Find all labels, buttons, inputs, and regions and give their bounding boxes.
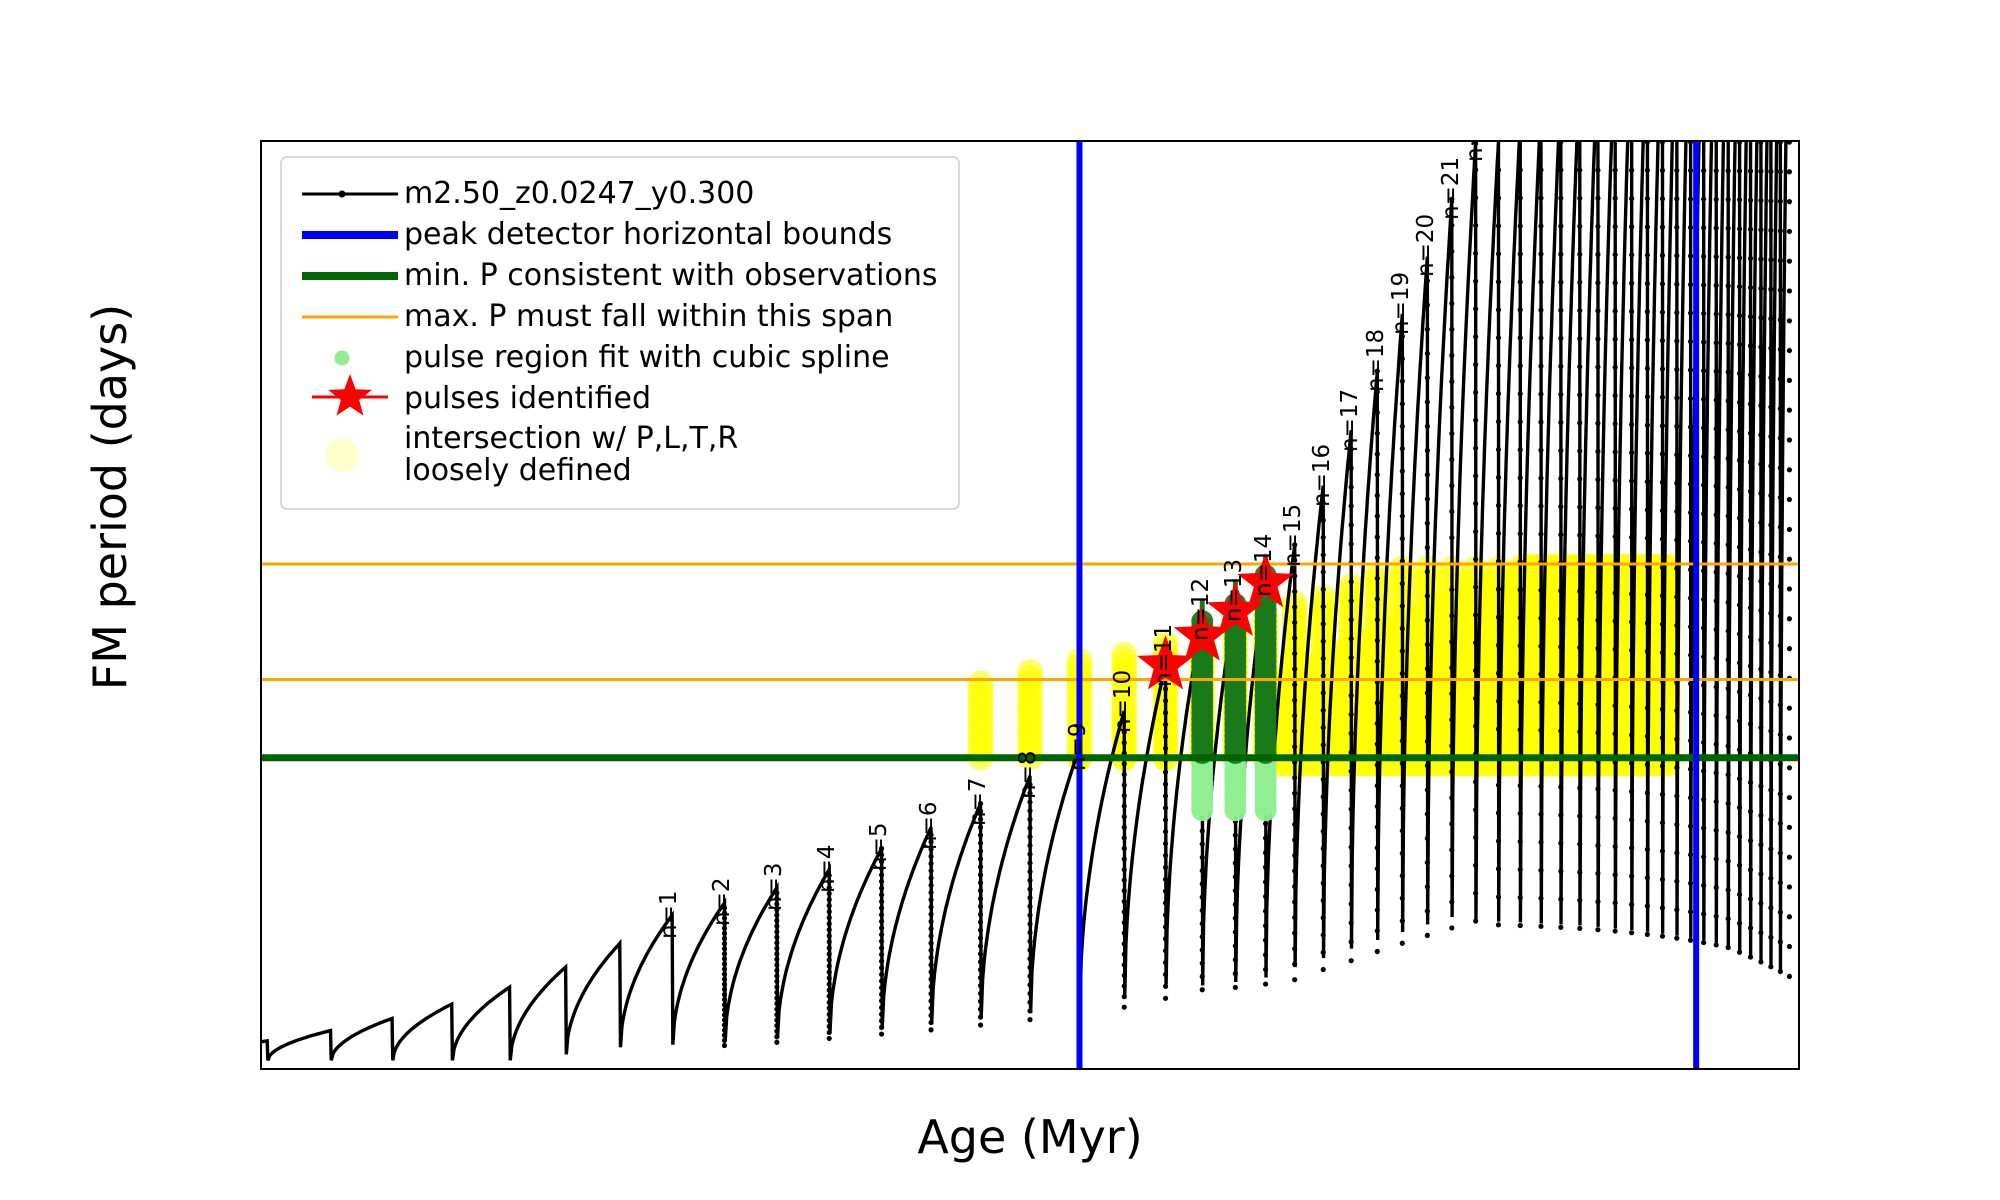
plot-area: n=1n=2n=3n=4n=5n=6n=7n=8n=9n=10n=11n=12n… [260, 140, 1800, 1070]
intersection-marker [968, 670, 994, 696]
y-axis-label: FM period (days) [83, 137, 137, 857]
x-axis-label: Age (Myr) [260, 1110, 1800, 1164]
figure-canvas: FM period (days) Age (Myr) n=1n=2n=3n=4n… [0, 0, 2000, 1200]
intersection-marker [1111, 642, 1137, 668]
